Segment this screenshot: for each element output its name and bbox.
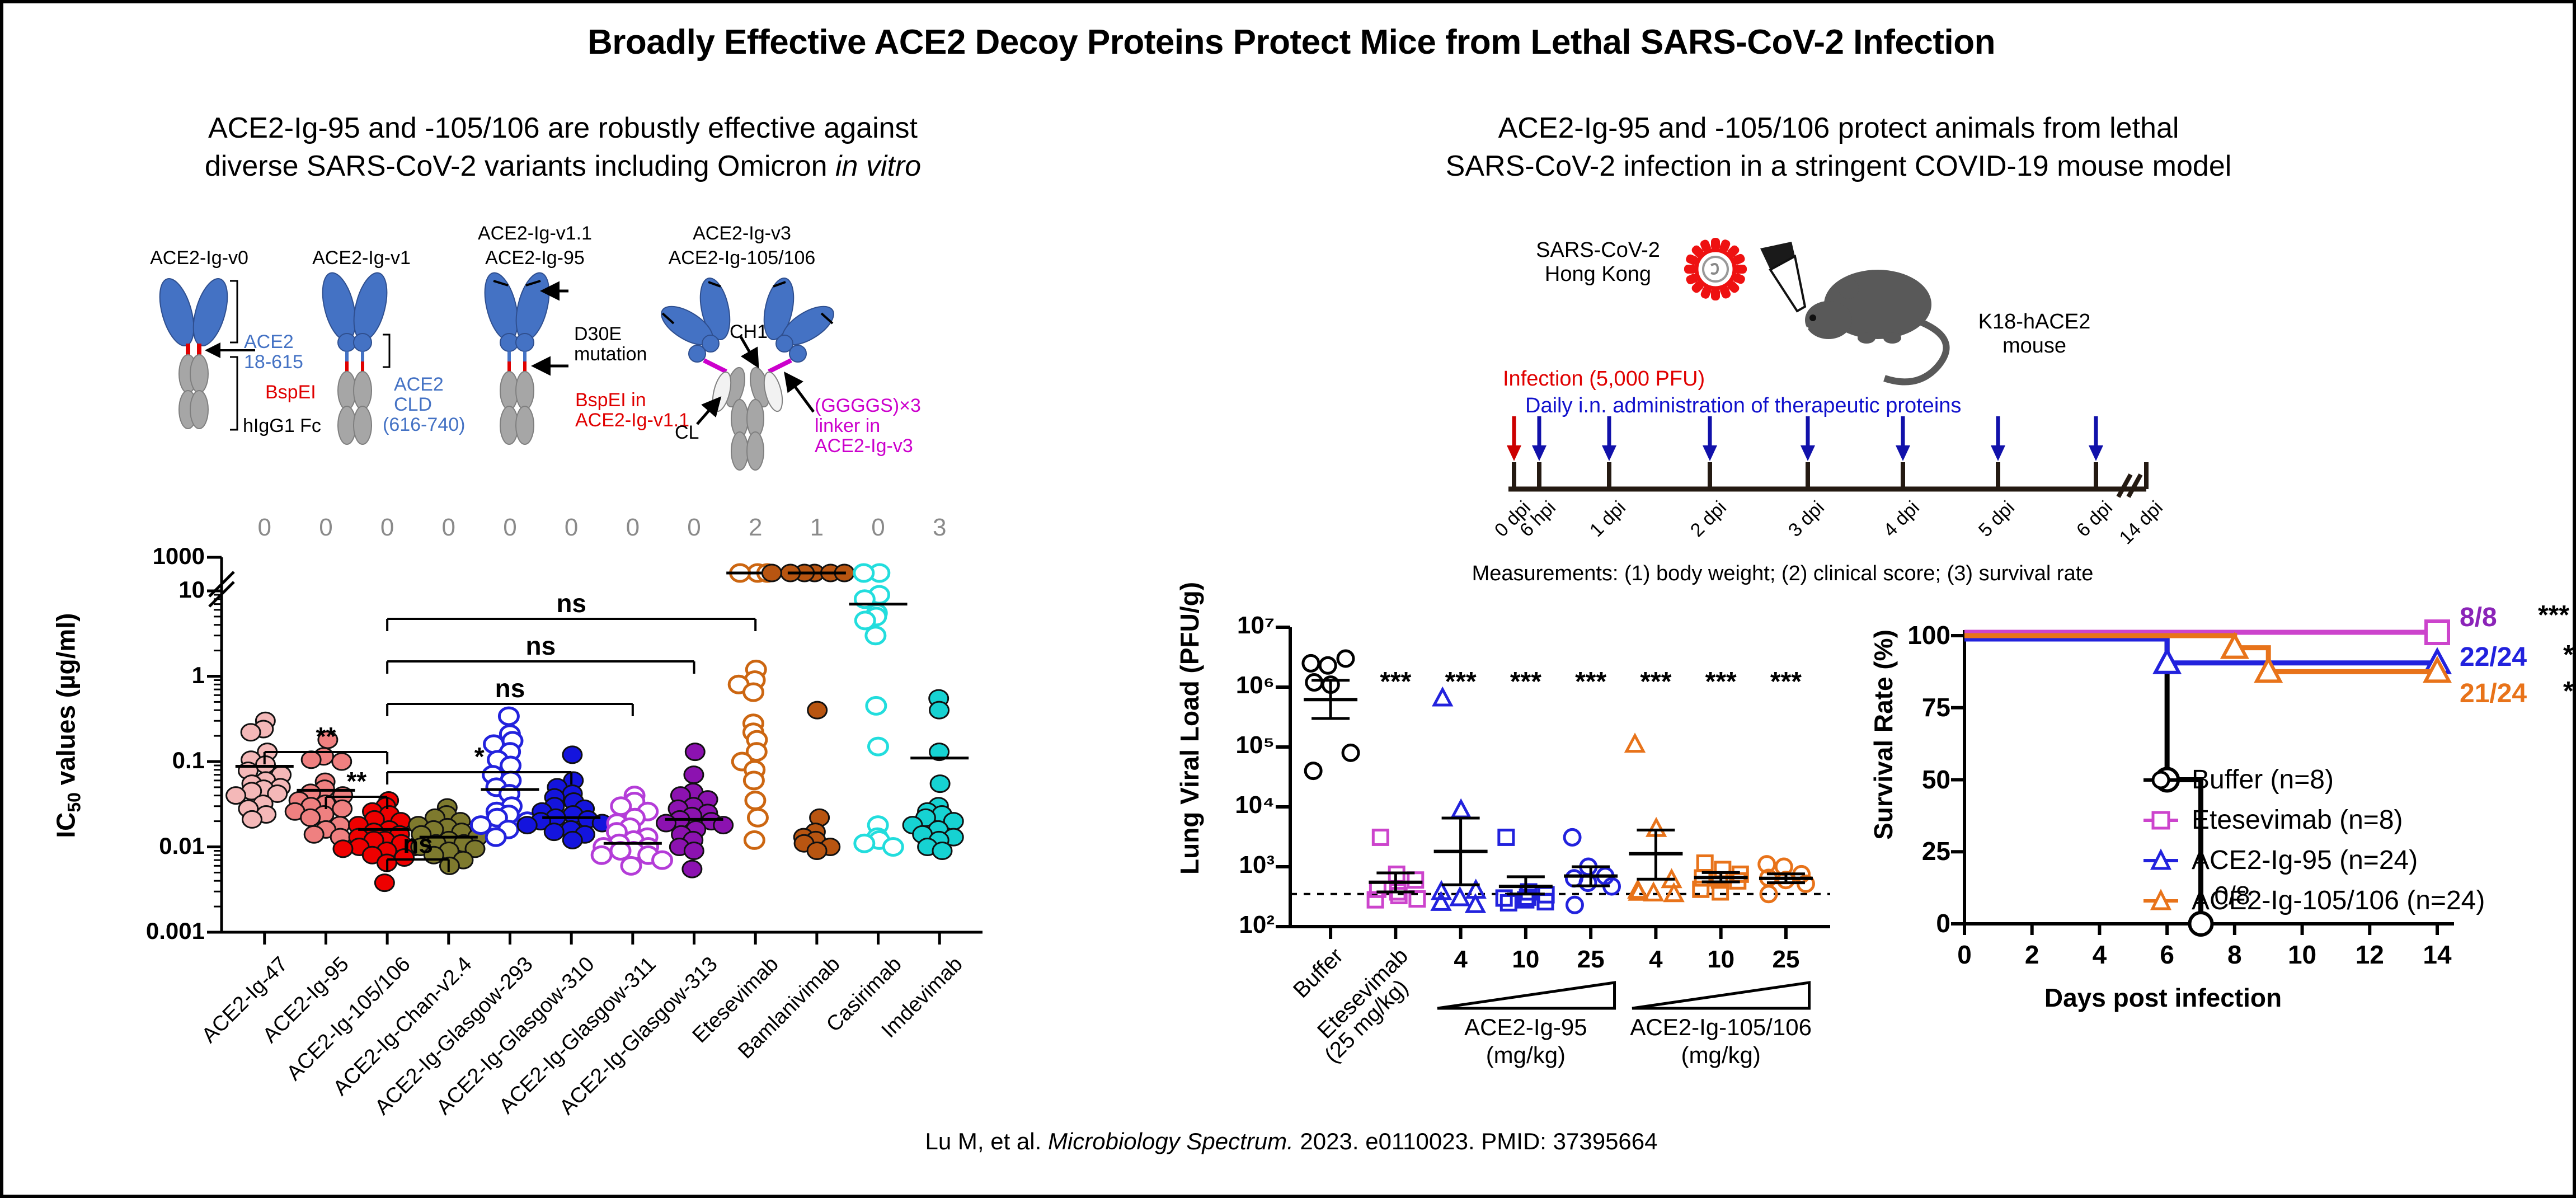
label-cl: CL (675, 422, 699, 444)
treatment-arrow-4 (1801, 416, 1815, 461)
left-subtitle: ACE2-Ig-95 and -105/106 are robustly eff… (37, 110, 1089, 185)
sv-legend-marker-0 (2143, 767, 2183, 793)
sv-legend-marker-2 (2143, 847, 2183, 874)
ic50-sig-5: ** (346, 767, 366, 796)
sv-sig-2: **** (2563, 640, 2576, 670)
sv-legend-label-1: Etesevimab (n=8) (2192, 805, 2403, 835)
page-title: Broadly Effective ACE2 Decoy Proteins Pr… (3, 22, 2576, 62)
label-ch1: CH1 (730, 321, 768, 343)
treatment-arrow-7 (2089, 416, 2103, 461)
construct-label-v11: ACE2-Ig-v1.1 (445, 223, 624, 245)
sv-legend-label-0: Buffer (n=8) (2192, 764, 2334, 795)
sv-endlabel-1: 8/8 (2460, 602, 2497, 633)
construct-label-v0: ACE2-Ig-v0 (126, 247, 272, 269)
label-ace2-ig-v11: ACE2-Ig-v1.1 (575, 410, 689, 431)
label-cld: CLD (394, 394, 432, 416)
citation-tail: 2023. e0110023. PMID: 37395664 (1294, 1128, 1658, 1154)
construct-diagrams: ACE2-Ig-v0 ACE2-Ig-v1 ACE2-Ig-v1.1 ACE2-… (115, 227, 1066, 496)
sv-endlabel-2: 22/24 (2460, 642, 2527, 673)
citation: Lu M, et al. Microbiology Spectrum. 2023… (3, 1128, 2576, 1155)
right-subtitle-line1: ACE2-Ig-95 and -105/106 protect animals … (1335, 110, 2342, 148)
label-bspei-in: BspEI in (575, 389, 646, 411)
ic50-sig-6: ns (403, 829, 433, 858)
treatment-label: Daily i.n. administration of therapeutic… (1525, 394, 1961, 418)
construct-label-105106: ACE2-Ig-105/106 (636, 247, 848, 269)
left-subtitle-line2b: in vitro (835, 150, 921, 182)
measurements-label: Measurements: (1) body weight; (2) clini… (1419, 562, 2146, 586)
construct-label-v3: ACE2-Ig-v3 (636, 223, 848, 245)
ic50-chart: IC50 values (µg/ml) 10001010.10.010.001 … (37, 524, 988, 1117)
mouse-icon (1796, 270, 1947, 382)
treatment-arrow-5 (1896, 416, 1910, 461)
timeline-graphic (1318, 422, 2381, 551)
sv-sig-3: **** (2563, 676, 2576, 707)
sv-endlabel-3: 21/24 (2460, 678, 2527, 709)
ic50-sig-4: * (474, 742, 485, 771)
sv-sig-1: *** (2538, 600, 2569, 631)
left-subtitle-line2a: diverse SARS-CoV-2 variants including Om… (205, 150, 835, 182)
label-higg1fc: hIgG1 Fc (243, 415, 321, 437)
right-subtitle: ACE2-Ig-95 and -105/106 protect animals … (1335, 110, 2342, 185)
sv-legend-marker-1 (2143, 807, 2183, 834)
left-subtitle-line1: ACE2-Ig-95 and -105/106 are robustly eff… (37, 110, 1089, 148)
citation-authors: Lu M, et al. (925, 1128, 1048, 1154)
sv-legend-label-2: ACE2-Ig-95 (n=24) (2192, 845, 2418, 876)
vl-dose-wedge-1 (1632, 980, 1809, 1012)
treatment-arrow-1 (1532, 416, 1546, 461)
virus-icon (1674, 227, 1757, 311)
sv-legend-label-3: ACE2-Ig-105/106 (n=24) (2192, 885, 2485, 916)
treatment-arrow-6 (1991, 416, 2005, 461)
survival-x-axis-label: Days post infection (1911, 983, 2415, 1013)
label-18-615: 18-615 (244, 351, 303, 373)
label-bspei-v0: BspEI (265, 382, 316, 403)
virus-and-mouse-graphic (1318, 222, 2381, 401)
treatment-arrow-3 (1703, 416, 1717, 461)
antibody-v0 (153, 275, 255, 430)
infection-label: Infection (5,000 PFU) (1503, 367, 1705, 391)
mouse-label-line1: K18-hACE2 (1945, 310, 2124, 334)
ic50-sig-3: ** (316, 722, 336, 751)
vl-group-units-1: (mg/kg) (1582, 1042, 1860, 1069)
citation-journal: Microbiology Spectrum. (1048, 1128, 1294, 1154)
survival-chart: Survival Rate (%) 1007550250 02468101214… (1839, 596, 2566, 1134)
sv-legend-marker-3 (2143, 887, 2183, 914)
viral-load-chart: Lung Viral Load (PFU/g) 10⁷10⁶10⁵10⁴10³1… (1150, 596, 1839, 1134)
ic50-sig-2: ns (495, 674, 525, 703)
label-d30e: D30E (574, 323, 622, 345)
vl-dose-wedge-0 (1437, 980, 1615, 1012)
label-ace2-v0: ACE2 (244, 331, 294, 353)
construct-label-95: ACE2-Ig-95 (445, 247, 624, 269)
poster-root: Broadly Effective ACE2 Decoy Proteins Pr… (0, 0, 2576, 1198)
pipette-icon (1760, 242, 1805, 311)
label-linker3: ACE2-Ig-v3 (815, 435, 913, 457)
antibody-v1 (317, 270, 393, 444)
label-linker1: (GGGGS)×3 (815, 395, 921, 417)
ic50-sig-1: ns (525, 631, 556, 660)
survival-line-2 (1964, 639, 2437, 663)
label-616-740: (616-740) (383, 414, 465, 436)
mouse-label-line2: mouse (1945, 334, 2124, 358)
ic50-sig-0: ns (556, 589, 586, 618)
label-linker2: linker in (815, 415, 880, 437)
construct-label-v1: ACE2-Ig-v1 (289, 247, 434, 269)
right-subtitle-line2: SARS-CoV-2 infection in a stringent COVI… (1335, 148, 2342, 186)
mouse-experiment-schematic: SARS-CoV-2 Hong Kong (1318, 216, 2381, 596)
label-mutation: mutation (574, 344, 647, 365)
vl-group-label-1: ACE2-Ig-105/106 (1582, 1014, 1860, 1041)
antibody-v11 (479, 270, 568, 444)
treatment-arrow-2 (1602, 416, 1616, 461)
mouse-label: K18-hACE2 mouse (1945, 310, 2124, 358)
label-ace2-v1: ACE2 (394, 374, 444, 396)
infection-arrow (1507, 416, 1521, 461)
